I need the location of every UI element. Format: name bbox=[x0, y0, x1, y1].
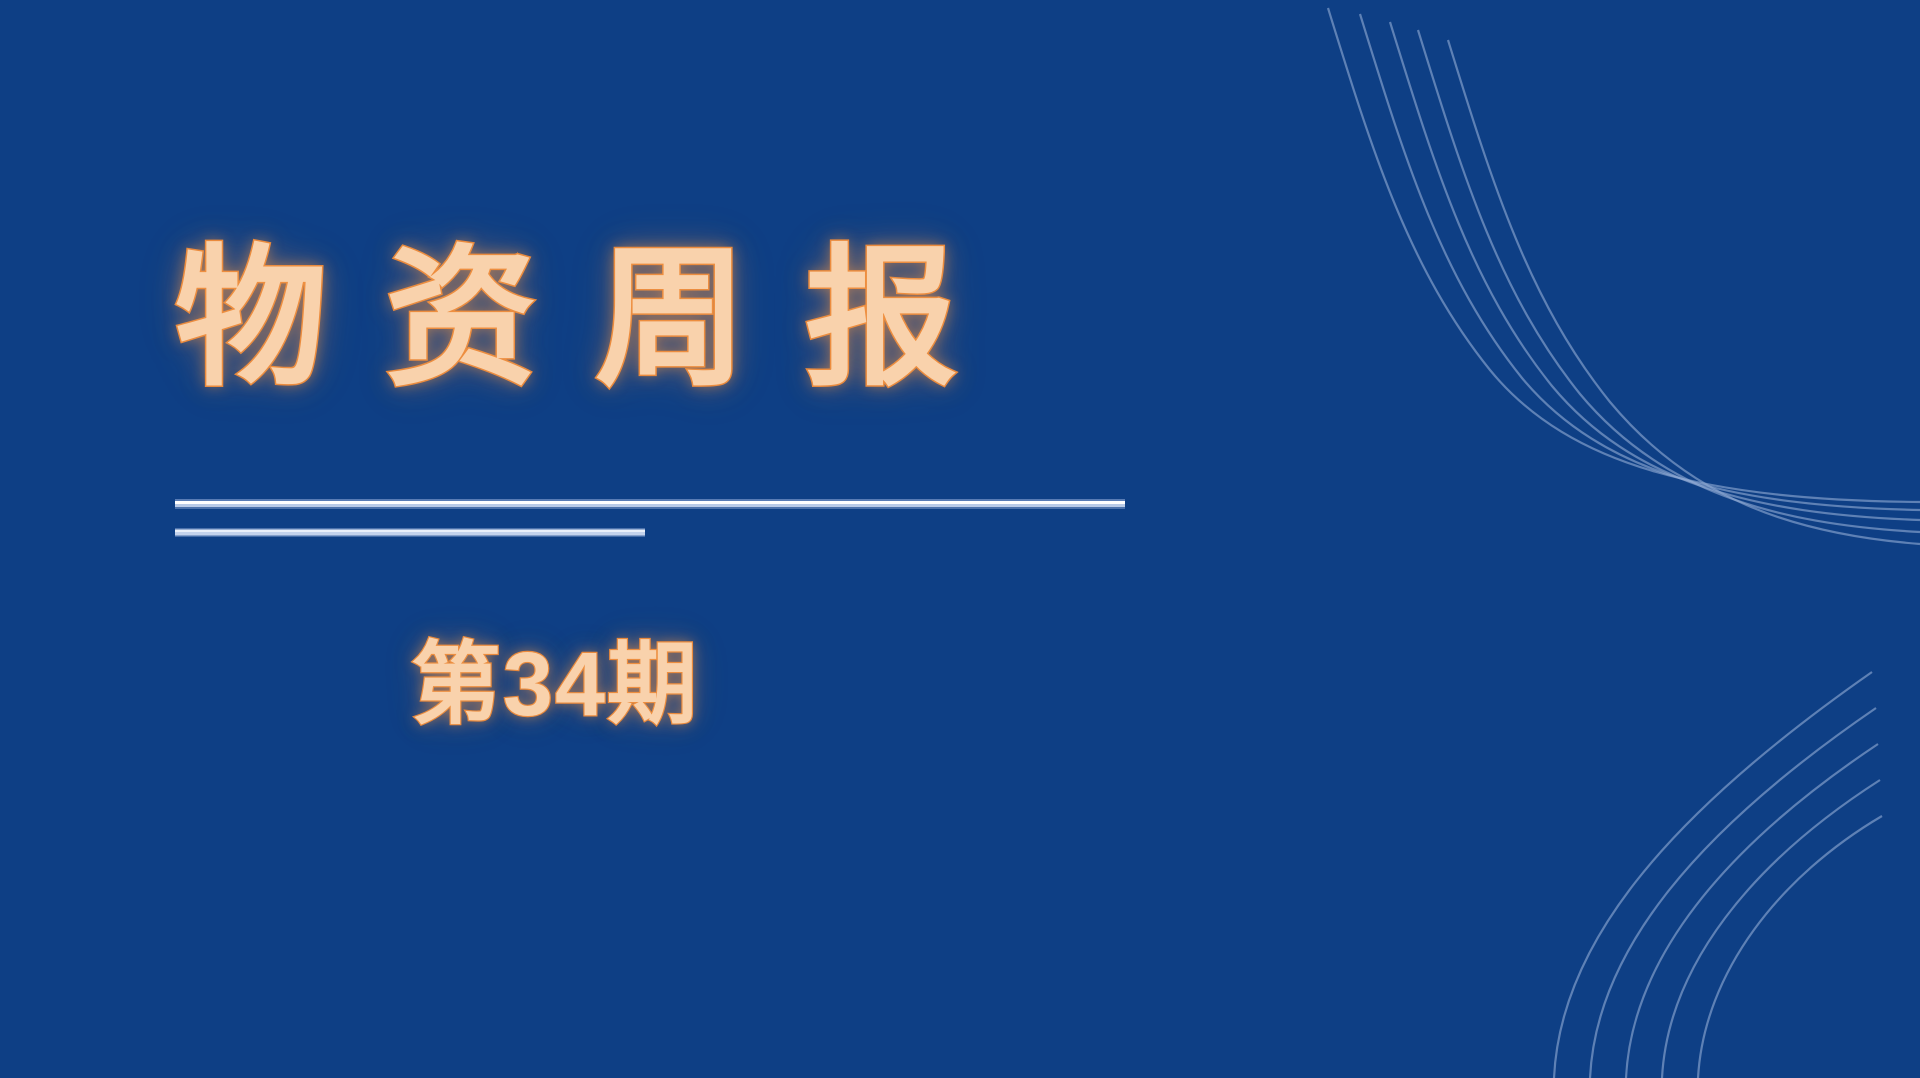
wave-line-5 bbox=[1448, 40, 1920, 544]
wave-lines-top-right-decoration bbox=[1280, 0, 1920, 580]
title-slide: 物资周报 第34期 bbox=[0, 0, 1920, 1078]
arc-line-1 bbox=[1554, 672, 1872, 1078]
wave-line-2 bbox=[1360, 14, 1920, 510]
title-underline-long bbox=[175, 499, 1125, 509]
wave-line-3 bbox=[1390, 22, 1920, 520]
arc-line-2 bbox=[1590, 708, 1876, 1078]
arc-line-4 bbox=[1662, 780, 1880, 1078]
arc-lines-bottom-right-decoration bbox=[1260, 598, 1920, 1078]
title-block: 物资周报 bbox=[175, 243, 1375, 395]
issue-number-subtitle: 第34期 bbox=[175, 640, 935, 730]
title-underline-short bbox=[175, 528, 645, 537]
arc-line-3 bbox=[1626, 744, 1878, 1078]
arc-line-5 bbox=[1698, 816, 1882, 1078]
wave-lines-top-right-svg bbox=[1280, 0, 1920, 580]
arc-lines-bottom-right-svg bbox=[1260, 598, 1920, 1078]
wave-line-1 bbox=[1328, 8, 1920, 502]
page-title: 物资周报 bbox=[175, 243, 1375, 395]
wave-line-4 bbox=[1418, 30, 1920, 532]
